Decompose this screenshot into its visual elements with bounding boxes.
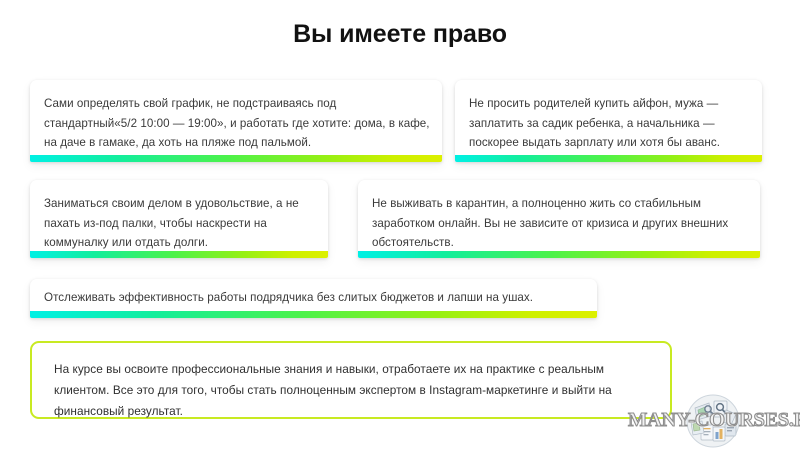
course-summary-text: На курсе вы освоите профессиональные зна… bbox=[54, 359, 654, 422]
gradient-accent-bar bbox=[358, 251, 760, 258]
benefit-card-text: Заниматься своим делом в удовольствие, а… bbox=[44, 194, 316, 253]
watermark: MANY-COURSES.RU bbox=[628, 396, 796, 448]
benefit-card-contractor-tracking: Отслеживать эффективность работы подрядч… bbox=[30, 279, 597, 318]
gradient-accent-bar bbox=[30, 155, 442, 162]
course-summary-card: На курсе вы освоите профессиональные зна… bbox=[30, 341, 672, 419]
benefit-card-text: Отслеживать эффективность работы подрядч… bbox=[44, 288, 585, 308]
benefit-card-text: Не выживать в карантин, а полноценно жит… bbox=[372, 194, 748, 253]
benefit-card-text: Не просить родителей купить айфон, мужа … bbox=[469, 94, 750, 153]
watermark-text: MANY-COURSES.RU bbox=[628, 409, 796, 432]
gradient-accent-bar bbox=[455, 155, 762, 162]
gradient-accent-bar bbox=[30, 311, 597, 318]
benefit-card-quarantine: Не выживать в карантин, а полноценно жит… bbox=[358, 180, 760, 258]
benefit-card-text: Сами определять свой график, не подстраи… bbox=[44, 94, 430, 153]
benefit-card-schedule: Сами определять свой график, не подстраи… bbox=[30, 80, 442, 162]
slide-root: Вы имеете право Сами определять свой гра… bbox=[0, 0, 800, 450]
benefit-card-enjoy-work: Заниматься своим делом в удовольствие, а… bbox=[30, 180, 328, 258]
benefit-card-money-independence: Не просить родителей купить айфон, мужа … bbox=[455, 80, 762, 162]
gradient-accent-bar bbox=[30, 251, 328, 258]
page-title: Вы имеете право bbox=[0, 19, 800, 49]
